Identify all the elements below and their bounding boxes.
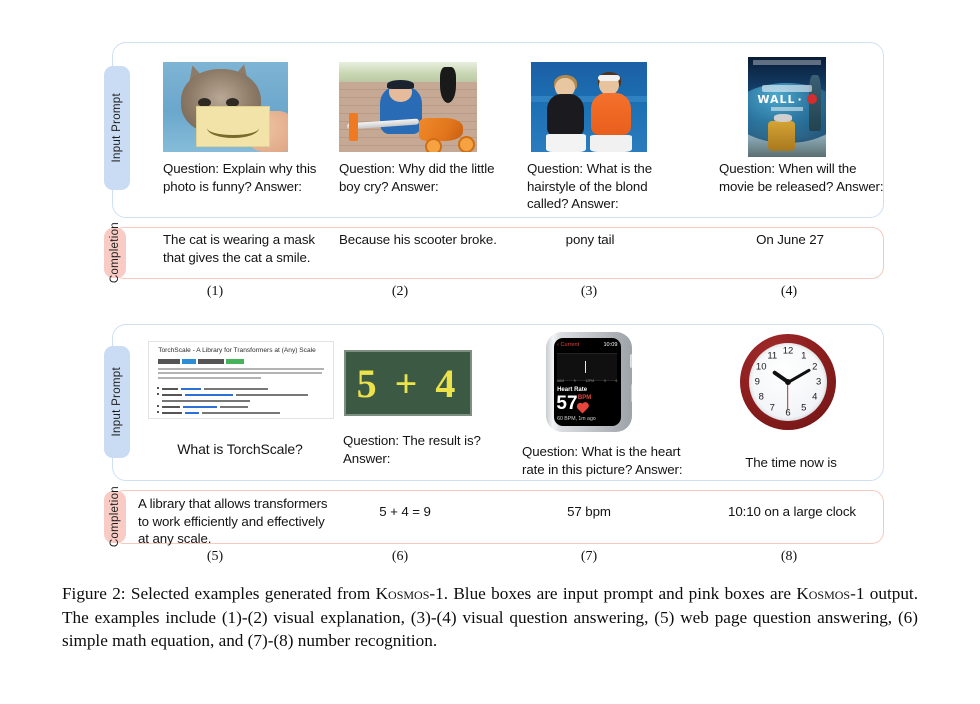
prompt-text-4: Question: When will the movie be release… xyxy=(719,160,889,195)
headband-shape xyxy=(598,75,620,80)
prompt-text-3: Question: What is the hairstyle of the b… xyxy=(527,160,687,213)
text-seg xyxy=(202,412,280,414)
clock-numeral-12: 12 xyxy=(783,346,794,357)
completion-text-3: pony tail xyxy=(520,231,660,249)
scooter-wheel-shape xyxy=(425,138,442,152)
model-name-kosmos-1: Kosmos-1 xyxy=(796,584,864,603)
clock-numeral-10: 10 xyxy=(756,362,767,373)
axis-tick: 9 xyxy=(574,379,576,383)
label-seg xyxy=(162,388,178,390)
clock-numeral-1: 1 xyxy=(801,351,806,362)
badge-shape xyxy=(226,359,244,364)
link-seg xyxy=(185,394,233,396)
example-index-6: (6) xyxy=(360,549,440,565)
example-index-2: (2) xyxy=(360,284,440,300)
apple-watch-heart-rate-photo: ‹ Current 10:09 6AM 9 12PM 3 6 Heart Rat… xyxy=(546,332,632,432)
chalkboard-math-equation-image: 5 + 4 xyxy=(344,350,472,416)
label-seg xyxy=(162,412,182,414)
wall-e-eyes-shape xyxy=(774,114,793,121)
axis-tick: 12PM xyxy=(585,379,594,383)
axis-tick: 6AM xyxy=(557,379,564,383)
yellow-sticky-note-shape xyxy=(196,106,271,147)
prompt-text-8: The time now is xyxy=(716,454,866,472)
heart-rate-value: 57 xyxy=(556,394,577,413)
chart-data-bar xyxy=(585,361,587,373)
wall-e-movie-poster: WALL · xyxy=(748,57,826,157)
bullet-item xyxy=(162,412,324,414)
axis-tick: 6 xyxy=(616,379,618,383)
walle-title-text: WALL · xyxy=(757,93,816,105)
input-prompt-tab-label: Input Prompt xyxy=(111,93,123,162)
clock-numeral-7: 7 xyxy=(770,402,775,413)
clock-numeral-2: 2 xyxy=(812,362,817,373)
bullet-dot xyxy=(157,405,159,407)
boy-cap-shape xyxy=(387,80,413,89)
badge-shape xyxy=(198,359,224,364)
bullet-item xyxy=(162,388,324,390)
heart-rate-subtext: 60 BPM, 1m ago xyxy=(557,416,596,422)
bullet-dot xyxy=(157,387,159,389)
two-tennis-players-photo xyxy=(531,62,647,152)
walle-title-separator: · xyxy=(798,93,803,106)
watch-status-bar: ‹ Current 10:09 xyxy=(557,342,617,348)
completion-text-2: Because his scooter broke. xyxy=(339,231,499,249)
intro-paragraph-lines xyxy=(158,368,324,382)
figure-caption-part2: . Blue boxes are input prompt and pink b… xyxy=(444,584,797,603)
orange-cone-shape xyxy=(349,113,358,141)
completion-tab-row2: Completion xyxy=(104,491,126,543)
bullet-dot xyxy=(157,393,159,395)
clock-numeral-4: 4 xyxy=(812,391,817,402)
digital-crown-shape xyxy=(630,354,632,368)
tennis-player-blond-shape xyxy=(547,78,584,152)
model-name-kosmos-1: Kosmos-1 xyxy=(376,584,444,603)
text-line xyxy=(158,377,261,379)
input-prompt-tab-row1: Input Prompt xyxy=(104,66,130,190)
clock-center-pin xyxy=(785,379,791,385)
heart-rate-unit: BPM xyxy=(578,395,591,401)
white-skirt-shape xyxy=(590,135,633,152)
label-seg xyxy=(162,406,180,408)
link-seg xyxy=(181,388,201,390)
side-button-shape xyxy=(631,384,632,402)
clock-numeral-3: 3 xyxy=(816,377,821,388)
clock-second-hand xyxy=(787,382,788,410)
prompt-text-1: Question: Explain why this photo is funn… xyxy=(163,160,323,195)
park-background-shape xyxy=(339,62,477,82)
bullet-dot xyxy=(157,411,159,413)
example-index-5: (5) xyxy=(175,549,255,565)
bullet-item xyxy=(162,406,324,408)
prompt-text-7: Question: What is the heart rate in this… xyxy=(522,443,702,478)
completion-text-8: 10:10 on a large clock xyxy=(710,503,874,521)
scooter-wheel-shape xyxy=(458,136,475,152)
bullet-item xyxy=(162,394,324,396)
completion-text-6: 5 + 4 = 9 xyxy=(340,503,470,521)
bullet-item xyxy=(162,400,324,402)
analog-wall-clock-photo: 12 1 2 3 4 5 6 7 8 9 10 11 xyxy=(740,334,836,430)
badge-shape xyxy=(182,359,196,364)
completion-text-4: On June 27 xyxy=(720,231,860,249)
completion-text-1: The cat is wearing a mask that gives the… xyxy=(163,231,323,266)
heart-rate-chart xyxy=(557,353,617,381)
figure-caption-prefix: Figure 2: xyxy=(62,584,126,603)
figure-caption: Figure 2: Selected examples generated fr… xyxy=(62,582,918,653)
white-skirt-shape xyxy=(546,134,586,152)
clock-numeral-11: 11 xyxy=(767,351,777,362)
completion-tab-row1: Completion xyxy=(104,228,126,278)
wall-e-robot-shape xyxy=(768,121,795,151)
completion-text-7: 57 bpm xyxy=(524,503,654,521)
example-index-8: (8) xyxy=(749,549,829,565)
black-tank-top-shape xyxy=(547,94,584,135)
feature-bullet-list xyxy=(162,388,324,418)
input-prompt-tab-label: Input Prompt xyxy=(111,367,123,436)
prompt-text-5: What is TorchScale? xyxy=(148,440,332,459)
completion-text-5: A library that allows transformers to wo… xyxy=(138,495,338,548)
axis-tick: 3 xyxy=(604,379,606,383)
drawn-smile-shape xyxy=(207,118,259,138)
completion-tab-label: Completion xyxy=(109,222,121,283)
link-seg xyxy=(183,406,217,408)
clock-face: 12 1 2 3 4 5 6 7 8 9 10 11 xyxy=(749,343,828,422)
figure-caption-part1: Selected examples generated from xyxy=(126,584,376,603)
orange-top-shape xyxy=(591,93,630,135)
clock-numeral-5: 5 xyxy=(801,402,806,413)
text-seg xyxy=(236,394,308,396)
completion-tab-label: Completion xyxy=(109,486,121,547)
boy-crying-next-to-scooter-photo xyxy=(339,62,477,152)
disney-pixar-logo-bar xyxy=(762,85,812,92)
text-seg xyxy=(204,388,268,390)
chalkboard-equation-text: 5 + 4 xyxy=(357,360,460,407)
walle-title-word: WALL xyxy=(757,93,795,106)
scooter-shape xyxy=(419,118,463,141)
text-line xyxy=(158,368,324,370)
torchscale-webpage-screenshot: TorchScale - A Library for Transformers … xyxy=(148,341,334,419)
chart-axis-labels: 6AM 9 12PM 3 6 xyxy=(557,379,617,383)
torchscale-page-title: TorchScale - A Library for Transformers … xyxy=(158,347,316,354)
figure-2-panel: Input Prompt Question: Explain why this … xyxy=(0,0,980,570)
clock-numeral-9: 9 xyxy=(755,377,760,388)
tennis-player-orange-shape xyxy=(591,75,630,152)
text-line xyxy=(158,372,322,374)
example-index-7: (7) xyxy=(549,549,629,565)
input-prompt-tab-row2: Input Prompt xyxy=(104,346,130,458)
example-index-3: (3) xyxy=(549,284,629,300)
kitten-with-smiley-sticky-note-photo xyxy=(163,62,288,152)
watch-clock-time: 10:09 xyxy=(603,342,617,348)
poster-tagline-bar xyxy=(771,107,802,111)
text-seg xyxy=(162,400,250,402)
example-index-1: (1) xyxy=(175,284,255,300)
watch-screen: ‹ Current 10:09 6AM 9 12PM 3 6 Heart Rat… xyxy=(554,338,621,426)
prompt-text-2: Question: Why did the little boy cry? An… xyxy=(339,160,499,195)
clock-numeral-8: 8 xyxy=(759,391,764,402)
prompt-text-6: Question: The result is? Answer: xyxy=(343,432,493,467)
text-seg xyxy=(220,406,248,408)
example-index-4: (4) xyxy=(749,284,829,300)
walle-title-e-badge xyxy=(807,94,817,104)
poster-credits-bar xyxy=(753,60,822,65)
heart-icon xyxy=(577,403,587,413)
watch-back-label: ‹ Current xyxy=(557,342,579,348)
badge-shape xyxy=(158,359,180,364)
label-seg xyxy=(162,394,182,396)
link-seg xyxy=(185,412,199,414)
repo-badges-row xyxy=(158,359,244,364)
